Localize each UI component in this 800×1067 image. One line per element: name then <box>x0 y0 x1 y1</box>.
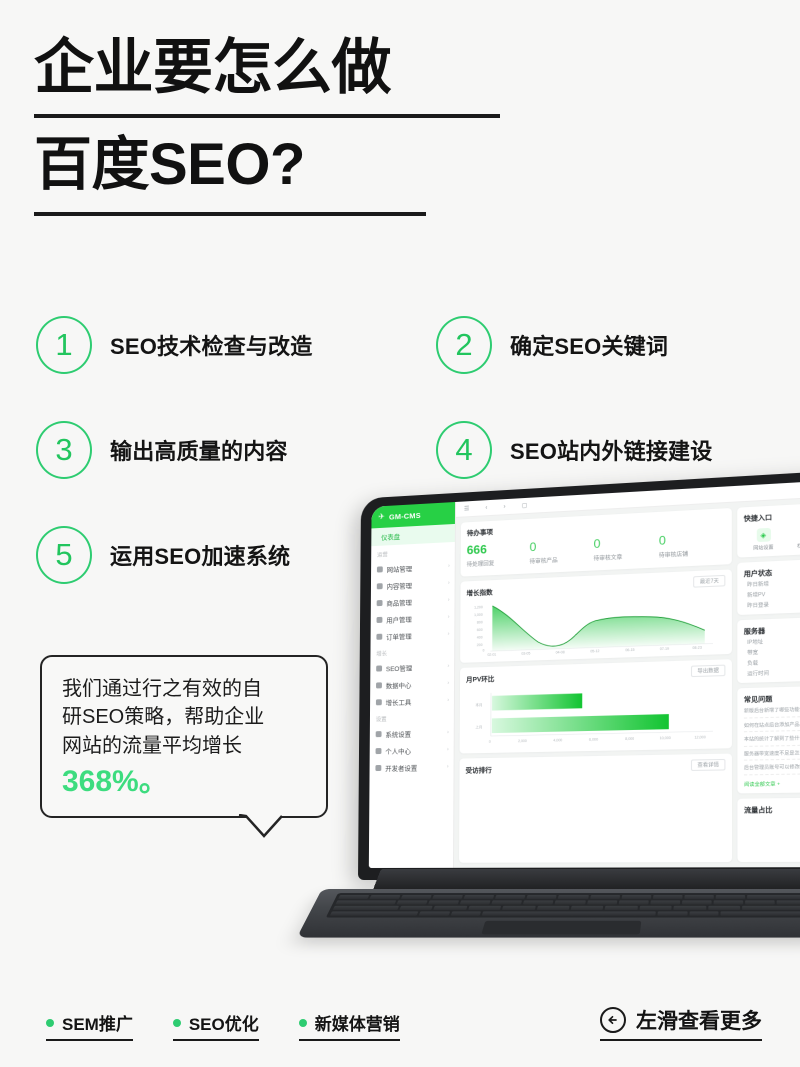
faq-item[interactable]: 后台管理员账号可以修改吗? <box>744 763 800 774</box>
laptop-lid: ✈ GM-CMS 仪表盘 运营 网站管理 › <box>358 470 800 880</box>
sidebar-item-label-settings: 系统设置 <box>385 728 411 739</box>
sidebar-item-developer[interactable]: 开发者设置 › <box>370 758 454 776</box>
pv-y-ticks: 本月 上月 <box>475 702 482 730</box>
user-state-line: 昨日新增 <box>744 578 800 589</box>
footer-tag-newmedia[interactable]: 新媒体营销 <box>299 1010 400 1041</box>
laptop-mockup: ✈ GM-CMS 仪表盘 运营 网站管理 › <box>318 495 800 995</box>
growth-area-fill <box>492 597 705 651</box>
dashboard-right-column: 快捷入口 ◈ 网站设置 ▩ 栏目管理 <box>737 502 800 862</box>
keyboard-row <box>330 911 800 915</box>
sidebar-item-label-site: 网站管理 <box>387 562 413 573</box>
bullet-dot-icon <box>173 1019 181 1027</box>
faq-item[interactable]: 本站的统计了解到了些什么数据? <box>744 735 800 747</box>
bubble-stat-value: 368%。 <box>62 764 306 800</box>
svg-text:600: 600 <box>477 628 483 632</box>
svg-text:1,000: 1,000 <box>474 613 483 617</box>
todo-value: 0 <box>594 535 659 551</box>
step-label-4: SEO站内外链接建设 <box>510 434 712 466</box>
dashboard-left-column: 待办事项 666 待处理回复 0 待审核产品 <box>459 508 732 863</box>
server-line: 运行时间 <box>744 668 800 678</box>
sidebar-item-label-order: 订单管理 <box>386 630 412 641</box>
window-icon[interactable]: ▢ <box>522 502 528 509</box>
todo-label: 待审核店铺 <box>659 548 726 559</box>
svg-text:上月: 上月 <box>475 724 482 729</box>
svg-text:03-05: 03-05 <box>521 651 530 655</box>
faq-title-text: 常见问题 <box>744 693 772 704</box>
server-title-text: 服务器 <box>744 624 765 635</box>
growth-title-text: 增长指数 <box>467 586 493 597</box>
headline-line-2: 百度SEO? <box>34 134 534 197</box>
pv-card: 月PV环比 导出数据 <box>460 659 732 753</box>
sidebar-item-profile[interactable]: 个人中心 › <box>370 741 454 760</box>
svg-text:04-08: 04-08 <box>556 650 565 654</box>
todo-cell[interactable]: 666 待处理回复 <box>467 541 530 568</box>
svg-text:07-19: 07-19 <box>660 647 669 651</box>
laptop-deck <box>297 889 800 938</box>
todo-label: 待审核文章 <box>594 551 659 562</box>
todo-value: 0 <box>659 531 726 547</box>
bullet-dot-icon <box>46 1019 54 1027</box>
sidebar-item-settings[interactable]: 系统设置 › <box>370 723 454 742</box>
todo-title-text: 待办事项 <box>467 526 493 537</box>
laptop-screen: ✈ GM-CMS 仪表盘 运营 网站管理 › <box>369 480 800 868</box>
todo-card: 待办事项 666 待处理回复 0 待审核产品 <box>461 508 732 577</box>
chart-icon <box>376 682 382 688</box>
chevron-right-icon: › <box>447 729 449 735</box>
seo-icon <box>376 665 382 671</box>
footer-tag-label: SEM推广 <box>62 1010 133 1035</box>
svg-text:8,000: 8,000 <box>625 737 634 741</box>
speech-bubble-tail <box>238 814 284 838</box>
user-state-line: 新增PV <box>744 588 800 599</box>
bullet-dot-icon <box>299 1019 307 1027</box>
headline-block: 企业要怎么做 百度SEO? <box>34 36 534 232</box>
traffic-title: 流量占比 <box>744 802 800 813</box>
svg-text:本月: 本月 <box>476 702 483 707</box>
svg-text:800: 800 <box>477 620 483 624</box>
svg-text:200: 200 <box>477 643 483 647</box>
svg-text:4,000: 4,000 <box>553 738 562 742</box>
svg-text:05-12: 05-12 <box>590 649 599 653</box>
step-label-5: 运用SEO加速系统 <box>110 539 290 571</box>
step-number-badge-1: 1 <box>36 316 92 374</box>
chevron-right-icon: › <box>448 597 450 603</box>
footer-tag-label: SEO优化 <box>189 1010 259 1035</box>
sidebar-item-growth[interactable]: 增长工具 › <box>370 691 454 710</box>
dashboard-main: ☰ ‹ › ▢ 待办事项 <box>454 480 800 868</box>
swipe-more-label: 左滑查看更多 <box>636 1005 762 1035</box>
svg-text:0: 0 <box>483 648 485 652</box>
svg-text:0: 0 <box>489 740 491 744</box>
sidebar-item-label-product: 商品管理 <box>386 596 412 607</box>
poster-root: 企业要怎么做 百度SEO? 1 SEO技术检查与改造 2 确定SEO关键词 3 … <box>0 0 800 1067</box>
speech-bubble-wrapper: 我们通过行之有效的自 研SEO策略，帮助企业 网站的流量平均增长 368%。 <box>40 655 328 818</box>
step-label-3: 输出高质量的内容 <box>110 434 288 466</box>
dashboard-sidebar: ✈ GM-CMS 仪表盘 运营 网站管理 › <box>369 502 456 868</box>
chevron-right-icon: › <box>448 631 450 637</box>
svg-text:08-23: 08-23 <box>692 646 702 651</box>
speech-bubble: 我们通过行之有效的自 研SEO策略，帮助企业 网站的流量平均增长 368%。 <box>40 655 328 818</box>
headline-rule-1 <box>34 114 500 118</box>
flag-icon <box>376 699 382 705</box>
forward-icon[interactable]: › <box>504 504 506 510</box>
svg-text:10,000: 10,000 <box>660 736 671 740</box>
quick-card-title: 快捷入口 <box>744 508 800 523</box>
sidebar-item-label-user: 用户管理 <box>386 613 412 624</box>
laptop-keyboard[interactable] <box>326 893 800 917</box>
chevron-right-icon: › <box>447 763 449 769</box>
todo-label: 待审核产品 <box>529 554 593 565</box>
todo-value: 0 <box>530 538 594 553</box>
quick-title-text: 快捷入口 <box>744 511 772 523</box>
faq-title: 常见问题 <box>744 691 800 704</box>
chevron-right-icon: › <box>447 746 449 752</box>
faq-item[interactable]: 新版后台新增了哪些功能? <box>744 706 800 718</box>
code-icon <box>375 764 381 770</box>
sidebar-item-label-data: 数据中心 <box>386 679 412 690</box>
svg-text:1,200: 1,200 <box>474 605 483 609</box>
todo-cell[interactable]: 0 待审核产品 <box>529 538 593 566</box>
logo-mark-icon: ✈ <box>377 512 386 521</box>
growth-area-chart: 1,200 1,000 800 600 400 200 0 <box>466 590 725 657</box>
bubble-line-2: 研SEO策略，帮助企业 <box>62 703 306 731</box>
step-number-badge-2: 2 <box>436 316 492 374</box>
server-line: IP地址 <box>744 636 800 646</box>
site-icon <box>377 566 383 572</box>
footer-tag-list: SEM推广 SEO优化 新媒体营销 <box>46 1010 400 1041</box>
chevron-right-icon: › <box>447 663 449 669</box>
visits-card-title: 受访排行 查看详情 <box>466 759 726 775</box>
pv-x-ticks: 0 2,000 4,000 6,000 8,000 10,000 12,000 <box>489 735 706 744</box>
quick-item[interactable]: ◈ 网站设置 <box>744 527 783 552</box>
server-title: 服务器 <box>744 622 800 636</box>
sidebar-item-label-profile: 个人中心 <box>385 745 411 756</box>
sidebar-item-label-seo: SEO管理 <box>386 662 412 673</box>
laptop-trackpad[interactable] <box>481 921 641 935</box>
bubble-line-3: 网站的流量平均增长 <box>62 732 306 760</box>
person-icon <box>376 748 382 754</box>
footer-tag-seo[interactable]: SEO优化 <box>173 1010 259 1041</box>
user-state-line: 昨日登录 <box>744 599 800 610</box>
visits-detail-button[interactable]: 查看详情 <box>691 759 726 771</box>
chevron-right-icon: › <box>448 614 450 620</box>
pv-bar <box>492 714 669 733</box>
faq-item[interactable]: 如何在站点后台添加产品、新闻? <box>744 720 800 732</box>
sidebar-item-label-dashboard: 仪表盘 <box>381 531 400 542</box>
todo-label: 待处理回复 <box>467 557 530 568</box>
server-card: 服务器 IP地址 带宽 负载 运行时间 <box>737 617 800 683</box>
keyboard-row <box>333 906 800 910</box>
order-icon <box>376 633 382 639</box>
arrow-left-circle-icon <box>600 1007 626 1033</box>
pv-title-text: 月PV环比 <box>466 672 494 683</box>
sidebar-item-label-growth: 增长工具 <box>386 696 412 707</box>
traffic-title-text: 流量占比 <box>744 803 773 814</box>
step-number-badge-3: 3 <box>36 421 92 479</box>
sidebar-item-order[interactable]: 订单管理 › <box>371 625 455 645</box>
user-state-title: 用户状态 <box>744 564 800 578</box>
chevron-right-icon: › <box>447 680 449 686</box>
step-item-4[interactable]: 4 SEO站内外链接建设 <box>436 421 796 479</box>
todo-row: 666 待处理回复 0 待审核产品 0 待审核文 <box>467 531 726 571</box>
chevron-right-icon: › <box>448 563 450 569</box>
step-label-2: 确定SEO关键词 <box>510 329 668 361</box>
svg-text:02-01: 02-01 <box>487 653 496 657</box>
pv-export-button[interactable]: 导出数据 <box>691 665 725 678</box>
server-line: 负载 <box>744 657 800 667</box>
step-number-badge-4: 4 <box>436 421 492 479</box>
quick-grid: ◈ 网站设置 ▩ 栏目管理 <box>744 525 800 552</box>
keyboard-row <box>335 900 800 904</box>
step-number-badge-5: 5 <box>36 526 92 584</box>
swipe-more-button[interactable]: 左滑查看更多 <box>600 1005 762 1041</box>
todo-cell[interactable]: 0 待审核文章 <box>594 535 659 563</box>
chevron-right-icon: › <box>448 580 450 586</box>
visits-card: 受访排行 查看详情 <box>459 754 732 863</box>
content-icon <box>377 583 383 589</box>
back-icon[interactable]: ‹ <box>485 505 487 511</box>
steps-row-1: 1 SEO技术检查与改造 2 确定SEO关键词 <box>36 292 796 397</box>
user-state-card: 用户状态 昨日新增 新增PV 昨日登录 <box>737 558 800 615</box>
footer-tag-sem[interactable]: SEM推广 <box>46 1010 133 1041</box>
traffic-share-card: 流量占比 <box>737 797 800 862</box>
svg-text:2,000: 2,000 <box>518 739 527 743</box>
product-icon <box>377 599 383 605</box>
headline-line-1: 企业要怎么做 <box>34 36 534 101</box>
growth-index-card: 增长指数 最近7天 <box>460 569 732 663</box>
footer-tag-label: 新媒体营销 <box>315 1010 400 1035</box>
user-icon <box>377 616 383 622</box>
sidebar-item-label-content: 内容管理 <box>387 579 413 590</box>
step-label-1: SEO技术检查与改造 <box>110 329 312 361</box>
growth-range-select[interactable]: 最近7天 <box>693 575 725 588</box>
step-item-2[interactable]: 2 确定SEO关键词 <box>436 316 796 374</box>
user-state-title-text: 用户状态 <box>744 566 772 578</box>
quick-item[interactable]: ▩ 栏目管理 <box>787 525 800 550</box>
dashboard-logo-text: GM-CMS <box>389 510 421 521</box>
svg-text:12,000: 12,000 <box>694 735 705 740</box>
dashboard-body: 待办事项 666 待处理回复 0 待审核产品 <box>454 497 800 868</box>
chevron-right-icon: › <box>447 697 449 703</box>
svg-text:6,000: 6,000 <box>589 738 598 742</box>
step-item-1[interactable]: 1 SEO技术检查与改造 <box>36 316 436 374</box>
svg-text:06-15: 06-15 <box>625 648 634 652</box>
menu-icon[interactable]: ☰ <box>464 505 469 512</box>
faq-item[interactable]: 服务器带宽速度不足是怎么处理? <box>744 749 800 761</box>
quick-item-label: 栏目管理 <box>787 542 800 550</box>
todo-value: 666 <box>467 541 530 556</box>
server-line: 带宽 <box>744 647 800 657</box>
headline-rule-2 <box>34 212 426 216</box>
svg-text:400: 400 <box>477 635 483 639</box>
growth-y-ticks: 1,200 1,000 800 600 400 200 0 <box>474 605 485 653</box>
laptop-base <box>318 865 800 975</box>
step-item-3[interactable]: 3 输出高质量的内容 <box>36 421 436 479</box>
sidebar-item-label-developer: 开发者设置 <box>385 762 417 773</box>
visits-title-text: 受访排行 <box>466 764 492 775</box>
pv-bar <box>492 693 582 710</box>
quick-item-label: 网站设置 <box>744 544 783 552</box>
bubble-line-1: 我们通过行之有效的自 <box>62 675 306 703</box>
faq-more-link[interactable]: 阅读全部文章 + <box>744 779 800 788</box>
keyboard-row <box>338 895 800 899</box>
faq-card: 常见问题 新版后台新增了哪些功能? 如何在站点后台添加产品、新闻? 本站的统计了… <box>737 686 800 793</box>
pv-bar-chart: 本月 上月 0 <box>466 680 726 748</box>
quick-entry-card: 快捷入口 ◈ 网站设置 ▩ 栏目管理 <box>737 502 800 557</box>
site-settings-icon: ◈ <box>756 528 770 542</box>
gear-icon <box>376 731 382 737</box>
todo-cell[interactable]: 0 待审核店铺 <box>659 531 726 559</box>
